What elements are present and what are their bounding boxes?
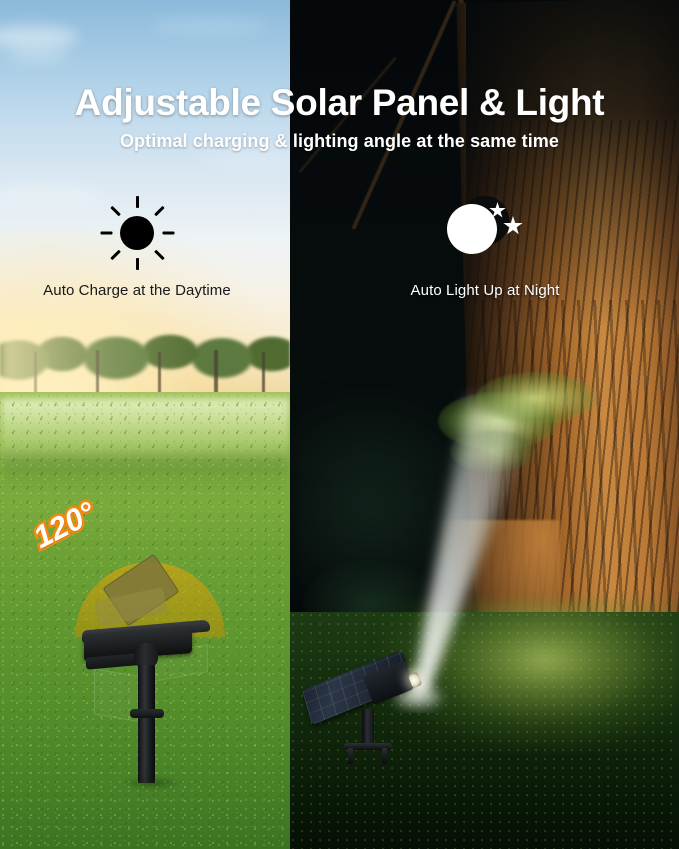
sun-ray [136, 196, 139, 208]
page-subtitle: Optimal charging & lighting angle at the… [0, 131, 679, 152]
sun-ray [100, 232, 112, 235]
sun-icon [100, 196, 174, 270]
sun-ray [154, 206, 165, 217]
moon-icon-wrapper [355, 196, 615, 270]
text-overlay: Adjustable Solar Panel & Light Optimal c… [0, 0, 679, 849]
sun-disc [120, 216, 154, 250]
star-icon [503, 216, 523, 236]
sun-icon-wrapper [0, 196, 282, 270]
sun-ray [136, 258, 139, 270]
sun-ray [154, 250, 165, 261]
feature-daytime: Auto Charge at the Daytime [0, 196, 282, 299]
moon-stars-icon [443, 196, 527, 270]
product-feature-banner: 120° [0, 0, 679, 849]
feature-night: Auto Light Up at Night [355, 196, 615, 299]
sun-ray [162, 232, 174, 235]
sun-ray [110, 250, 121, 261]
crescent-moon-icon [442, 199, 503, 260]
feature-label-daytime: Auto Charge at the Daytime [0, 282, 282, 299]
feature-label-night: Auto Light Up at Night [355, 282, 615, 299]
sun-ray [110, 206, 121, 217]
page-title: Adjustable Solar Panel & Light [0, 84, 679, 123]
